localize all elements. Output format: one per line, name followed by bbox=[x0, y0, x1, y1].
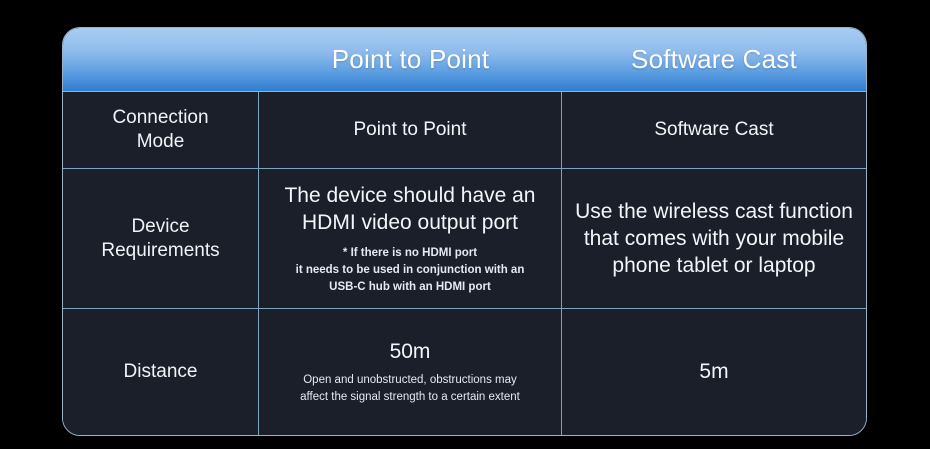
table-body: Connection Mode Point to Point Software … bbox=[63, 92, 866, 435]
row-label-connection-mode: Connection Mode bbox=[112, 106, 208, 154]
table-header-software-cast: Software Cast bbox=[562, 28, 866, 91]
table-header-row: Point to Point Software Cast bbox=[63, 28, 866, 92]
row-label-cell-connection-mode: Connection Mode bbox=[63, 92, 259, 168]
row-label-cell-distance: Distance bbox=[63, 309, 259, 435]
cell-value-device-requirements-point-to-point: The device should have an HDMI video out… bbox=[284, 182, 535, 237]
cell-value-connection-mode-software-cast: Software Cast bbox=[654, 118, 773, 142]
page-root: Point to Point Software Cast Connection … bbox=[0, 0, 930, 449]
cell-distance-software-cast: 5m bbox=[562, 309, 866, 435]
cell-distance-point-to-point: 50m Open and unobstructed, obstructions … bbox=[259, 309, 562, 435]
cell-value-distance-software-cast: 5m bbox=[699, 358, 728, 385]
table-header-corner-cell bbox=[63, 28, 259, 91]
cell-note-distance-point-to-point: Open and unobstructed, obstructions may … bbox=[300, 372, 520, 405]
cell-device-requirements-software-cast: Use the wireless cast function that come… bbox=[562, 169, 866, 308]
cell-connection-mode-software-cast: Software Cast bbox=[562, 92, 866, 168]
cell-connection-mode-point-to-point: Point to Point bbox=[259, 92, 562, 168]
cell-value-distance-point-to-point: 50m bbox=[390, 338, 431, 365]
cell-note-device-requirements-point-to-point: * If there is no HDMI port it needs to b… bbox=[296, 245, 525, 295]
row-label-cell-device-requirements: Device Requirements bbox=[63, 169, 259, 308]
row-label-distance: Distance bbox=[124, 360, 198, 384]
table-header-point-to-point: Point to Point bbox=[259, 28, 562, 91]
table-row: Connection Mode Point to Point Software … bbox=[63, 92, 866, 169]
comparison-table: Point to Point Software Cast Connection … bbox=[62, 27, 867, 436]
cell-value-device-requirements-software-cast: Use the wireless cast function that come… bbox=[575, 198, 853, 280]
cell-value-connection-mode-point-to-point: Point to Point bbox=[353, 118, 466, 142]
table-row: Device Requirements The device should ha… bbox=[63, 169, 866, 309]
cell-device-requirements-point-to-point: The device should have an HDMI video out… bbox=[259, 169, 562, 308]
row-label-device-requirements: Device Requirements bbox=[101, 215, 219, 263]
table-row: Distance 50m Open and unobstructed, obst… bbox=[63, 309, 866, 435]
